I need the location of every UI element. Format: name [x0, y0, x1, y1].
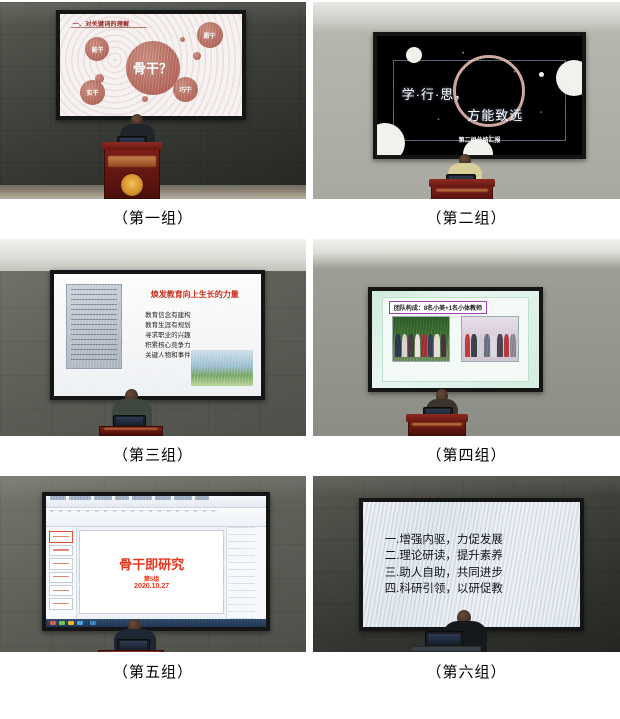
slide-4-panel: 团队构成：8名小美+1名小体教师 — [382, 297, 529, 382]
photo-group-6: 一.增强内驱，力促发展 二.理论研读，提升素养 三.助人自助，共同进步 四.科研… — [313, 476, 620, 652]
slide-4: 团队构成：8名小美+1名小体教师 — [372, 291, 539, 388]
slide-5-subtitle: 第5组 — [80, 574, 223, 583]
ppt-ribbon[interactable] — [46, 508, 266, 528]
figure-caption-3: （第三组） — [0, 436, 306, 476]
podium-4 — [408, 420, 466, 436]
podium-3 — [99, 426, 163, 436]
slide-4-title: 团队构成：8名小美+1名小体教师 — [389, 301, 487, 314]
bubble-dot-c — [142, 96, 148, 102]
photo-group-5: 骨干即研究 第5组 2020.10.27 — [0, 476, 306, 652]
ppt-slide-canvas[interactable]: 骨干即研究 第5组 2020.10.27 — [79, 530, 224, 614]
ppt-thumbnail-1[interactable] — [49, 531, 73, 542]
ppt-notes-pane[interactable] — [226, 527, 266, 619]
podium-banner-text — [108, 156, 156, 167]
ppt-thumbnail-5[interactable] — [49, 585, 73, 596]
blob-topleft — [406, 47, 422, 63]
ppt-thumbnail-3[interactable] — [49, 558, 73, 569]
figure-cell-6: 一.增强内驱，力促发展 二.理论研读，提升素养 三.助人自助，共同进步 四.科研… — [313, 476, 620, 695]
school-emblem-icon — [121, 174, 143, 196]
team-photo-stage — [461, 316, 519, 362]
note-lines — [71, 289, 117, 364]
title-underline — [71, 27, 147, 28]
photo-grid-page: 一、对关键词的理解 骨干？ 愿干 能干 实干 巧干 — [0, 0, 620, 719]
podium-top-edge — [406, 414, 468, 422]
slide-1: 一、对关键词的理解 骨干？ 愿干 能干 实干 巧干 — [60, 14, 242, 116]
slide-3-bullets: 教育信念有建构 教育生涯有规划 寻求职业的兴趣 积累核心竞争力 关键人物和事件 — [145, 311, 191, 361]
team-photo-outdoor — [392, 316, 450, 362]
handwritten-note-image — [66, 284, 122, 369]
podium-top-edge — [429, 179, 495, 187]
ppt-tab-row[interactable] — [50, 496, 209, 500]
slide-5-title: 骨干即研究 — [80, 554, 223, 573]
led-screen-6: 一.增强内驱，力促发展 二.理论研读，提升素养 三.助人自助，共同进步 四.科研… — [359, 498, 584, 631]
photo-group-4: 团队构成：8名小美+1名小体教师 — [313, 239, 620, 436]
slide-6: 一.增强内驱，力促发展 二.理论研读，提升素养 三.助人自助，共同进步 四.科研… — [363, 502, 580, 627]
slide-5-powerpoint: 骨干即研究 第5组 2020.10.27 — [46, 496, 266, 627]
led-screen-1: 一、对关键词的理解 骨干？ 愿干 能干 实干 巧干 — [56, 10, 246, 120]
blob-dot — [539, 72, 544, 77]
ceiling-band — [0, 239, 306, 271]
campus-photo — [191, 350, 253, 387]
slide-6-line-1: 一.增强内驱，力促发展 — [385, 532, 567, 548]
figure-cell-2: 学·行·思， 方能致远 第二组总结汇报 （第二组） — [313, 2, 620, 239]
photo-group-1: 一、对关键词的理解 骨干？ 愿干 能干 实干 巧干 — [0, 2, 306, 199]
bubble-center: 骨干？ — [126, 41, 180, 95]
figure-cell-3: 焕发教育向上生长的力量 教育信念有建构 教育生涯有规划 寻求职业的兴趣 积累核心… — [0, 239, 306, 476]
bubble-dot-b — [193, 52, 201, 60]
ppt-thumbnail-2[interactable] — [49, 545, 73, 556]
led-screen-3: 焕发教育向上生长的力量 教育信念有建构 教育生涯有规划 寻求职业的兴趣 积累核心… — [50, 270, 265, 400]
figure-cell-1: 一、对关键词的理解 骨干？ 愿干 能干 实干 巧干 — [0, 2, 306, 239]
screen-content-6: 一.增强内驱，力促发展 二.理论研读，提升素养 三.助人自助，共同进步 四.科研… — [363, 502, 580, 627]
screen-content-1: 一、对关键词的理解 骨干？ 愿干 能干 实干 巧干 — [60, 14, 242, 116]
slide-6-line-2: 二.理论研读，提升素养 — [385, 548, 567, 564]
bubble-qiaogan: 巧干 — [173, 77, 198, 102]
bullet-4: 积累核心竞争力 — [145, 341, 191, 351]
podium-6 — [411, 646, 481, 652]
podium-banner-text — [104, 428, 159, 430]
bubble-yuangan: 愿干 — [197, 22, 223, 48]
slide-6-lines: 一.增强内驱，力促发展 二.理论研读，提升素养 三.助人自助，共同进步 四.科研… — [385, 532, 567, 597]
photo-group-2: 学·行·思， 方能致远 第二组总结汇报 — [313, 2, 620, 199]
screen-content-3: 焕发教育向上生长的力量 教育信念有建构 教育生涯有规划 寻求职业的兴趣 积累核心… — [54, 274, 261, 396]
ppt-ribbon-icons[interactable] — [50, 510, 217, 512]
people-row-stage — [465, 334, 517, 357]
slide-2-line2: 方能致远 — [467, 105, 523, 124]
podium-5 — [98, 650, 164, 652]
figure-caption-2: （第二组） — [313, 199, 620, 239]
windows-taskbar[interactable] — [46, 619, 266, 627]
led-screen-5: 骨干即研究 第5组 2020.10.27 — [42, 492, 270, 631]
podium-1 — [104, 148, 160, 199]
bullet-5: 关键人物和事件 — [145, 351, 191, 361]
podium-2 — [431, 185, 493, 199]
ppt-thumbnail-4[interactable] — [49, 572, 73, 583]
slide-3-title: 焕发教育向上生长的力量 — [137, 289, 253, 300]
slide-2: 学·行·思， 方能致远 第二组总结汇报 — [377, 36, 582, 155]
bullet-1: 教育信念有建构 — [145, 311, 191, 321]
led-screen-2: 学·行·思， 方能致远 第二组总结汇报 — [373, 32, 586, 159]
slide-3: 焕发教育向上生长的力量 教育信念有建构 教育生涯有规划 寻求职业的兴趣 积累核心… — [54, 274, 261, 396]
slide-2-subtitle: 第二组总结汇报 — [377, 135, 582, 144]
ppt-thumbnail-pane[interactable] — [46, 527, 77, 619]
figure-caption-6: （第六组） — [313, 652, 620, 695]
podium-banner-text — [436, 189, 489, 193]
figure-caption-4: （第四组） — [313, 436, 620, 476]
bubble-dot-d — [95, 74, 104, 83]
screen-content-5: 骨干即研究 第5组 2020.10.27 — [46, 496, 266, 627]
slide-6-line-4: 四.科研引领，以研促教 — [385, 581, 567, 597]
people-row-outdoor — [395, 334, 447, 357]
figure-cell-4: 团队构成：8名小美+1名小体教师 — [313, 239, 620, 476]
podium-banner-text — [412, 423, 461, 426]
slide-5-date: 2020.10.27 — [80, 583, 223, 590]
led-screen-4: 团队构成：8名小美+1名小体教师 — [368, 287, 543, 392]
screen-content-4: 团队构成：8名小美+1名小体教师 — [372, 291, 539, 388]
bullet-3: 寻求职业的兴趣 — [145, 331, 191, 341]
bullet-2: 教育生涯有规划 — [145, 321, 191, 331]
slide-2-line1: 学·行·思， — [402, 84, 469, 103]
figure-caption-5: （第五组） — [0, 652, 306, 695]
screen-content-2: 学·行·思， 方能致远 第二组总结汇报 — [377, 36, 582, 155]
slide-6-line-3: 三.助人自助，共同进步 — [385, 565, 567, 581]
podium-top-edge — [102, 142, 161, 150]
figure-grid: 一、对关键词的理解 骨干？ 愿干 能干 实干 巧干 — [0, 0, 620, 695]
figure-cell-5: 骨干即研究 第5组 2020.10.27 — [0, 476, 306, 695]
figure-caption-1: （第一组） — [0, 199, 306, 239]
ppt-thumbnail-6[interactable] — [49, 598, 73, 609]
photo-group-3: 焕发教育向上生长的力量 教育信念有建构 教育生涯有规划 寻求职业的兴趣 积累核心… — [0, 239, 306, 436]
ppt-titlebar — [46, 496, 266, 508]
